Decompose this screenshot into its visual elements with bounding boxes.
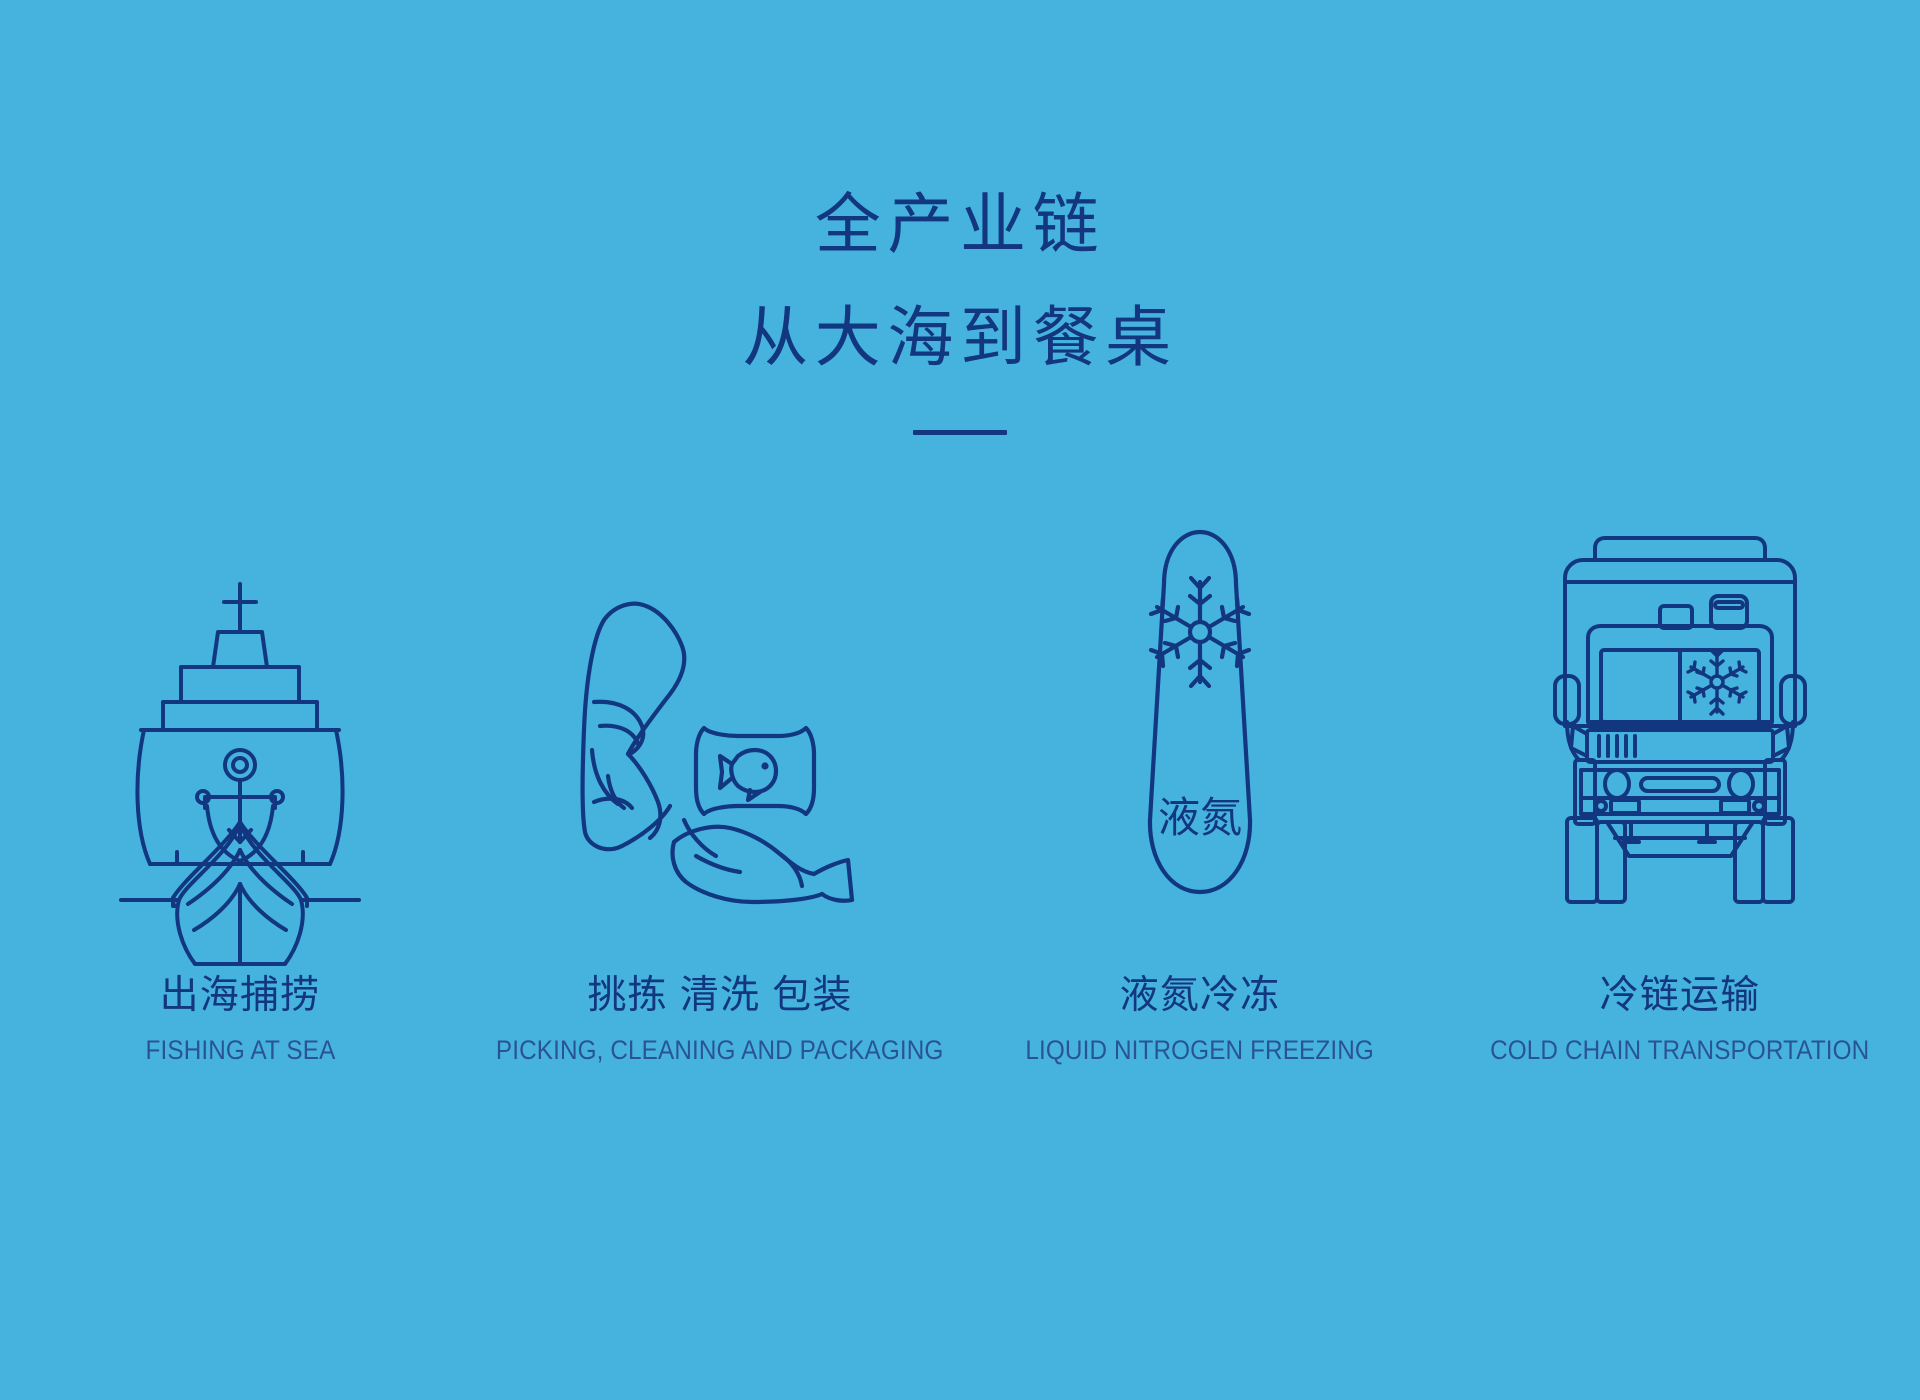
page-title-line-1: 全产业链 <box>0 180 1920 271</box>
step-labels: 液氮冷冻 LIQUID NITROGEN FREEZING <box>1006 972 1393 1066</box>
step-label-en: FISHING AT SEA <box>145 1034 335 1066</box>
step-icon-wrapper <box>115 520 365 910</box>
step-label-cn: 出海捕捞 <box>135 972 346 1021</box>
title-divider <box>913 430 1007 435</box>
step-fishing-at-sea: 出海捕捞 FISHING AT SEA <box>0 520 480 1066</box>
step-label-cn: 液氮冷冻 <box>1006 972 1393 1021</box>
page-header: 全产业链 从大海到餐桌 <box>0 180 1920 435</box>
step-labels: 挑拣 清洗 包装 PICKING, CLEANING AND PACKAGING <box>471 972 968 1066</box>
step-label-en: PICKING, CLEANING AND PACKAGING <box>496 1034 944 1066</box>
snowflake-icon <box>1151 578 1249 686</box>
step-icon-wrapper: 液氮 <box>1110 520 1290 910</box>
step-label-cn: 挑拣 清洗 包装 <box>471 972 968 1021</box>
refrigerated-truck-icon <box>1545 530 1815 910</box>
page-title-line-2: 从大海到餐桌 <box>0 293 1920 384</box>
liquid-nitrogen-tank-icon: 液氮 <box>1110 520 1290 910</box>
grille-slats <box>1599 736 1635 756</box>
step-labels: 冷链运输 COLD CHAIN TRANSPORTATION <box>1469 972 1890 1066</box>
step-icon-wrapper <box>1545 520 1815 910</box>
hands-with-packaged-fish-icon <box>570 580 870 910</box>
nitrogen-tank-text: 液氮 <box>1158 794 1242 841</box>
step-label-en: LIQUID NITROGEN FREEZING <box>1026 1034 1375 1066</box>
step-label-cn: 冷链运输 <box>1469 972 1890 1021</box>
snowflake-icon <box>1688 650 1746 714</box>
fishing-boat-icon <box>115 580 365 910</box>
step-liquid-nitrogen-freezing: 液氮 液氮冷冻 LIQUID NITROGEN FREEZING <box>960 520 1440 1066</box>
step-labels: 出海捕捞 FISHING AT SEA <box>135 972 346 1066</box>
step-picking-cleaning-packaging: 挑拣 清洗 包装 PICKING, CLEANING AND PACKAGING <box>480 520 960 1066</box>
process-steps-row: 出海捕捞 FISHING AT SEA <box>0 520 1920 1066</box>
infographic-page: 全产业链 从大海到餐桌 <box>0 0 1920 1400</box>
step-cold-chain-transportation: 冷链运输 COLD CHAIN TRANSPORTATION <box>1440 520 1920 1066</box>
title-divider-wrapper <box>0 430 1920 435</box>
step-label-en: COLD CHAIN TRANSPORTATION <box>1490 1034 1869 1066</box>
step-icon-wrapper <box>570 520 870 910</box>
